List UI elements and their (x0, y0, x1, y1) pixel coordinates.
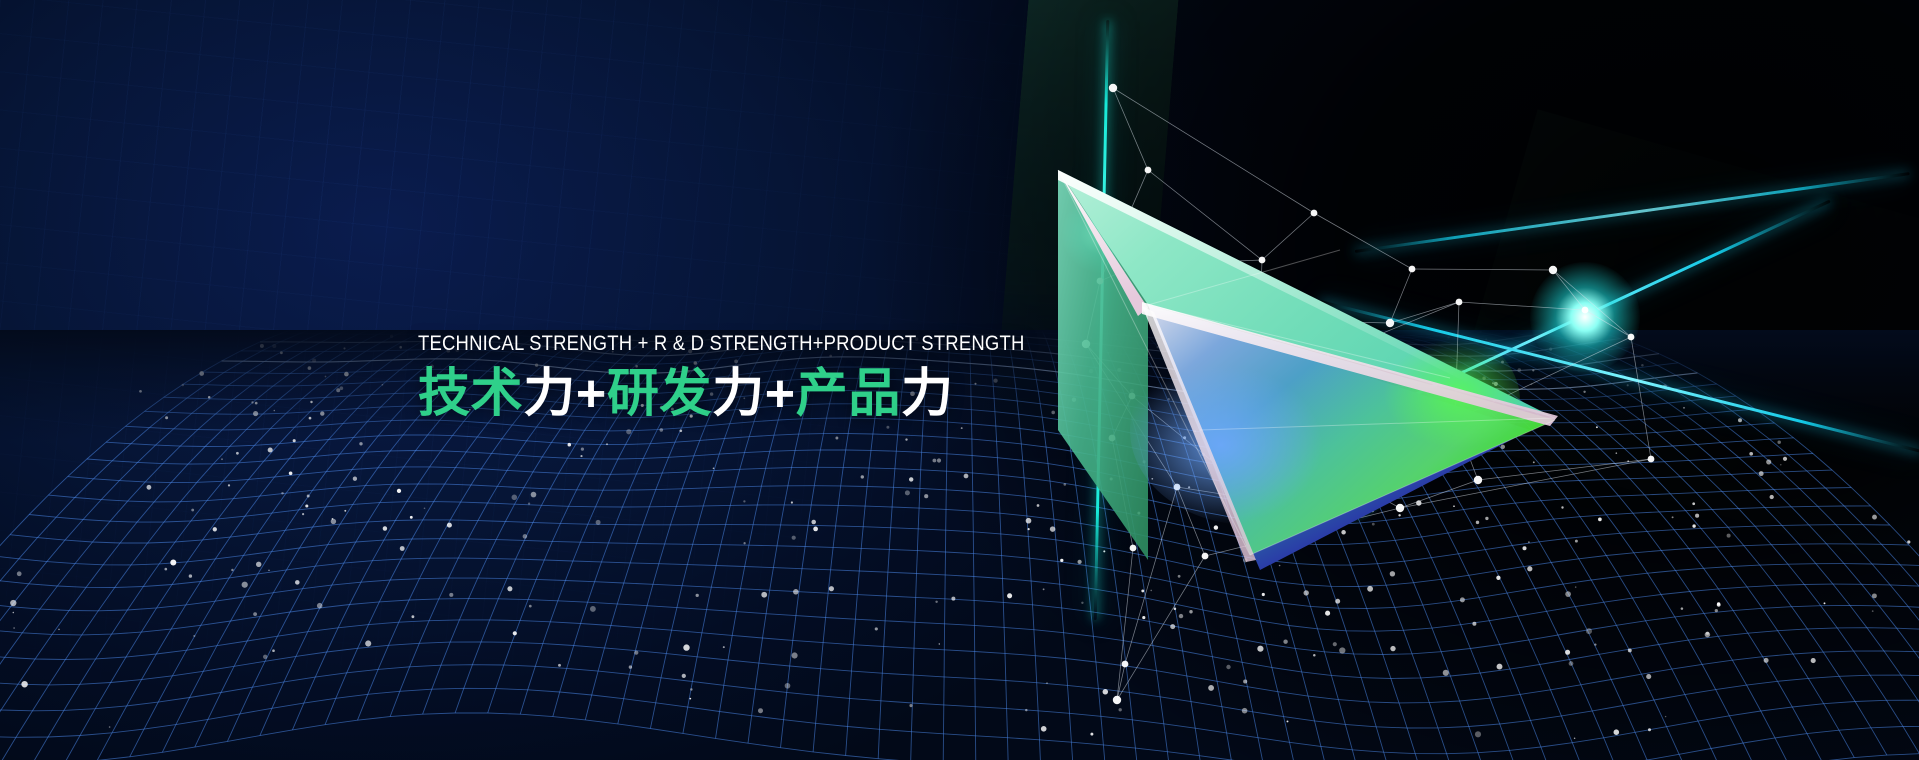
title-segment: + (765, 365, 796, 423)
hero-banner: TECHNICAL STRENGTH + R & D STRENGTH+PROD… (0, 0, 1919, 760)
headline-eyebrow: TECHNICAL STRENGTH + R & D STRENGTH+PROD… (418, 333, 1192, 355)
title-segment: 力 (523, 365, 576, 423)
headline-block: TECHNICAL STRENGTH + R & D STRENGTH+PROD… (418, 333, 1318, 422)
title-segment: + (576, 365, 607, 423)
title-segment: 技术 (418, 365, 523, 423)
headline-title: 技术力+研发力+产品力 (418, 366, 1318, 422)
title-segment: 产品 (796, 365, 901, 423)
title-segment: 研发 (607, 365, 712, 423)
title-segment: 力 (901, 365, 954, 423)
title-segment: 力 (712, 365, 765, 423)
